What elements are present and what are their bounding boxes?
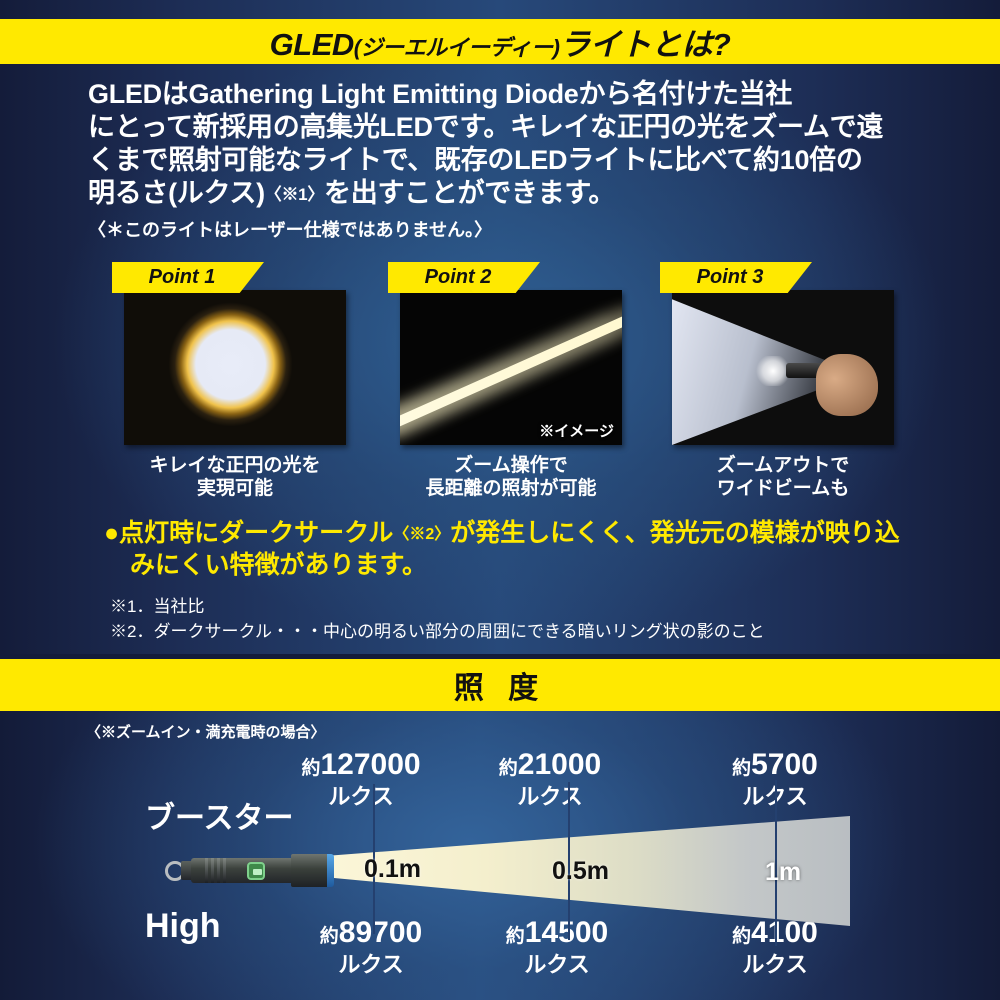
lux-booster-0-5m: 約21000 ルクス <box>480 751 620 810</box>
flashlight-bezel <box>327 854 334 887</box>
lux-booster-1m-value: 5700 <box>751 748 818 781</box>
torch-flare <box>756 356 790 386</box>
lux-high-0-5m: 約14500 ルクス <box>487 919 627 978</box>
lux-high-0-1m-unit: ルクス <box>296 951 446 978</box>
point-3-caption-line-1: ズームアウトで <box>717 455 849 476</box>
intro-line-3: くまで照射可能なライトで、既存のLEDライトに比べて約10倍の <box>88 144 918 177</box>
lux-booster-0-5m-value: 21000 <box>518 748 601 781</box>
lux-booster-0-1m: 約127000 ルクス <box>286 751 436 810</box>
intro-line-2: にとって新採用の高集光LEDです。キレイな正円の光をズームで遠 <box>88 111 918 144</box>
lux-high-0-1m: 約89700 ルクス <box>296 919 446 978</box>
dark-circle-footnote-marker-2: 〈※2〉 <box>393 526 450 543</box>
mode-label-high: High <box>145 907 221 946</box>
lux-booster-1m-prefix: 約 <box>732 758 751 779</box>
lux-high-1m-unit: ルクス <box>710 951 840 978</box>
footnotes: ※1．当社比 ※2．ダークサークル・・・中心の明るい部分の周囲にできる暗いリング… <box>110 594 765 644</box>
intro-line-4: 明るさ(ルクス)〈※1〉を出すことができます。 <box>88 177 918 211</box>
footnote-2: ※2．ダークサークル・・・中心の明るい部分の周囲にできる暗いリング状の影のこと <box>110 619 765 644</box>
point-1-caption: キレイな正円の光を 実現可能 <box>112 454 358 500</box>
point-3-label: Point 3 <box>697 266 764 289</box>
illuminance-banner: 照 度 <box>0 659 1000 711</box>
long-throw-beam-photo: ※イメージ <box>400 290 622 445</box>
hand <box>816 354 878 416</box>
dark-circle-line-1-b: が発生しにくく、発光元の模様が映り込 <box>450 519 900 547</box>
intro-line-4-a: 明るさ(ルクス) <box>88 178 265 208</box>
laser-disclaimer: 〈＊このライトはレーザー仕様ではありません。〉 <box>88 216 492 242</box>
intro-paragraph: GLEDはGathering Light Emitting Diodeから名付け… <box>88 78 918 211</box>
point-2-caption: ズーム操作で 長距離の照射が可能 <box>388 454 634 500</box>
point-2-label: Point 2 <box>425 266 492 289</box>
point-1-caption-line-2: 実現可能 <box>197 478 273 499</box>
point-3-caption: ズームアウトで ワイドビームも <box>660 454 906 500</box>
point-3-caption-line-2: ワイドビームも <box>717 478 849 499</box>
lux-high-0-1m-value: 89700 <box>339 916 422 949</box>
flashlight-head <box>291 854 329 887</box>
image-disclaimer: ※イメージ <box>539 420 614 441</box>
point-3-ribbon: Point 3 <box>660 262 812 293</box>
dark-circle-line-1-a: ●点灯時にダークサークル <box>104 519 393 547</box>
dark-circle-line-2: みにくい特徴があります。 <box>104 550 944 581</box>
title-sub: (ジーエルイーディー) <box>354 35 560 60</box>
page-title: GLED(ジーエルイーディー)ライトとは? <box>270 19 731 64</box>
flashlight-knurl <box>223 858 226 883</box>
lux-high-0-5m-unit: ルクス <box>487 951 627 978</box>
flashlight-illustration <box>163 848 339 892</box>
point-1-label: Point 1 <box>149 266 216 289</box>
lux-booster-0-1m-unit: ルクス <box>286 783 436 810</box>
distance-label-1m: 1m <box>765 858 801 887</box>
distance-label-0-5m: 0.5m <box>552 857 609 886</box>
illuminance-title: 照 度 <box>454 663 546 707</box>
wide-beam-photo <box>672 290 894 445</box>
lux-booster-0-1m-value: 127000 <box>320 748 420 781</box>
distance-label-0-1m: 0.1m <box>364 855 421 884</box>
point-card-2: Point 2 ※イメージ ズーム操作で 長距離の照射が可能 <box>388 262 634 500</box>
dark-circle-highlight: ●点灯時にダークサークル〈※2〉が発生しにくく、発光元の模様が映り込 みにくい特… <box>104 518 944 581</box>
intro-footnote-marker-1: 〈※1〉 <box>265 185 324 204</box>
title-banner: GLED(ジーエルイーディー)ライトとは? <box>0 19 1000 64</box>
lux-booster-0-5m-prefix: 約 <box>499 758 518 779</box>
power-button-icon <box>247 862 265 880</box>
footnote-1: ※1．当社比 <box>110 594 765 619</box>
point-2-caption-line-2: 長距離の照射が可能 <box>425 478 596 499</box>
power-glyph <box>253 869 262 875</box>
circular-beam-photo <box>124 290 346 445</box>
intro-line-4-b: を出すことができます。 <box>324 178 615 208</box>
lux-booster-0-5m-unit: ルクス <box>480 783 620 810</box>
lux-booster-0-1m-prefix: 約 <box>301 758 320 779</box>
point-card-1: Point 1 キレイな正円の光を 実現可能 <box>112 262 358 500</box>
flashlight-knurl <box>211 858 214 883</box>
intro-line-1: GLEDはGathering Light Emitting Diodeから名付け… <box>88 78 918 111</box>
point-card-3: Point 3 ズームアウトで ワイドビームも <box>660 262 906 500</box>
mode-label-booster: ブースター <box>145 793 294 837</box>
title-tail: ライトとは? <box>559 27 730 62</box>
lux-high-0-5m-value: 14500 <box>525 916 608 949</box>
lux-high-1m-prefix: 約 <box>732 926 751 947</box>
lux-high-0-1m-prefix: 約 <box>320 926 339 947</box>
lux-high-0-5m-prefix: 約 <box>506 926 525 947</box>
chart-condition-note: 〈※ズームイン・満充電時の場合〉 <box>86 721 326 742</box>
point-1-caption-line-1: キレイな正円の光を <box>149 455 320 476</box>
flashlight-knurl <box>205 858 208 883</box>
point-1-ribbon: Point 1 <box>112 262 264 293</box>
title-main: GLED <box>270 27 354 62</box>
flashlight-knurl <box>217 858 220 883</box>
point-2-ribbon: Point 2 <box>388 262 540 293</box>
point-2-caption-line-1: ズーム操作で <box>454 455 567 476</box>
